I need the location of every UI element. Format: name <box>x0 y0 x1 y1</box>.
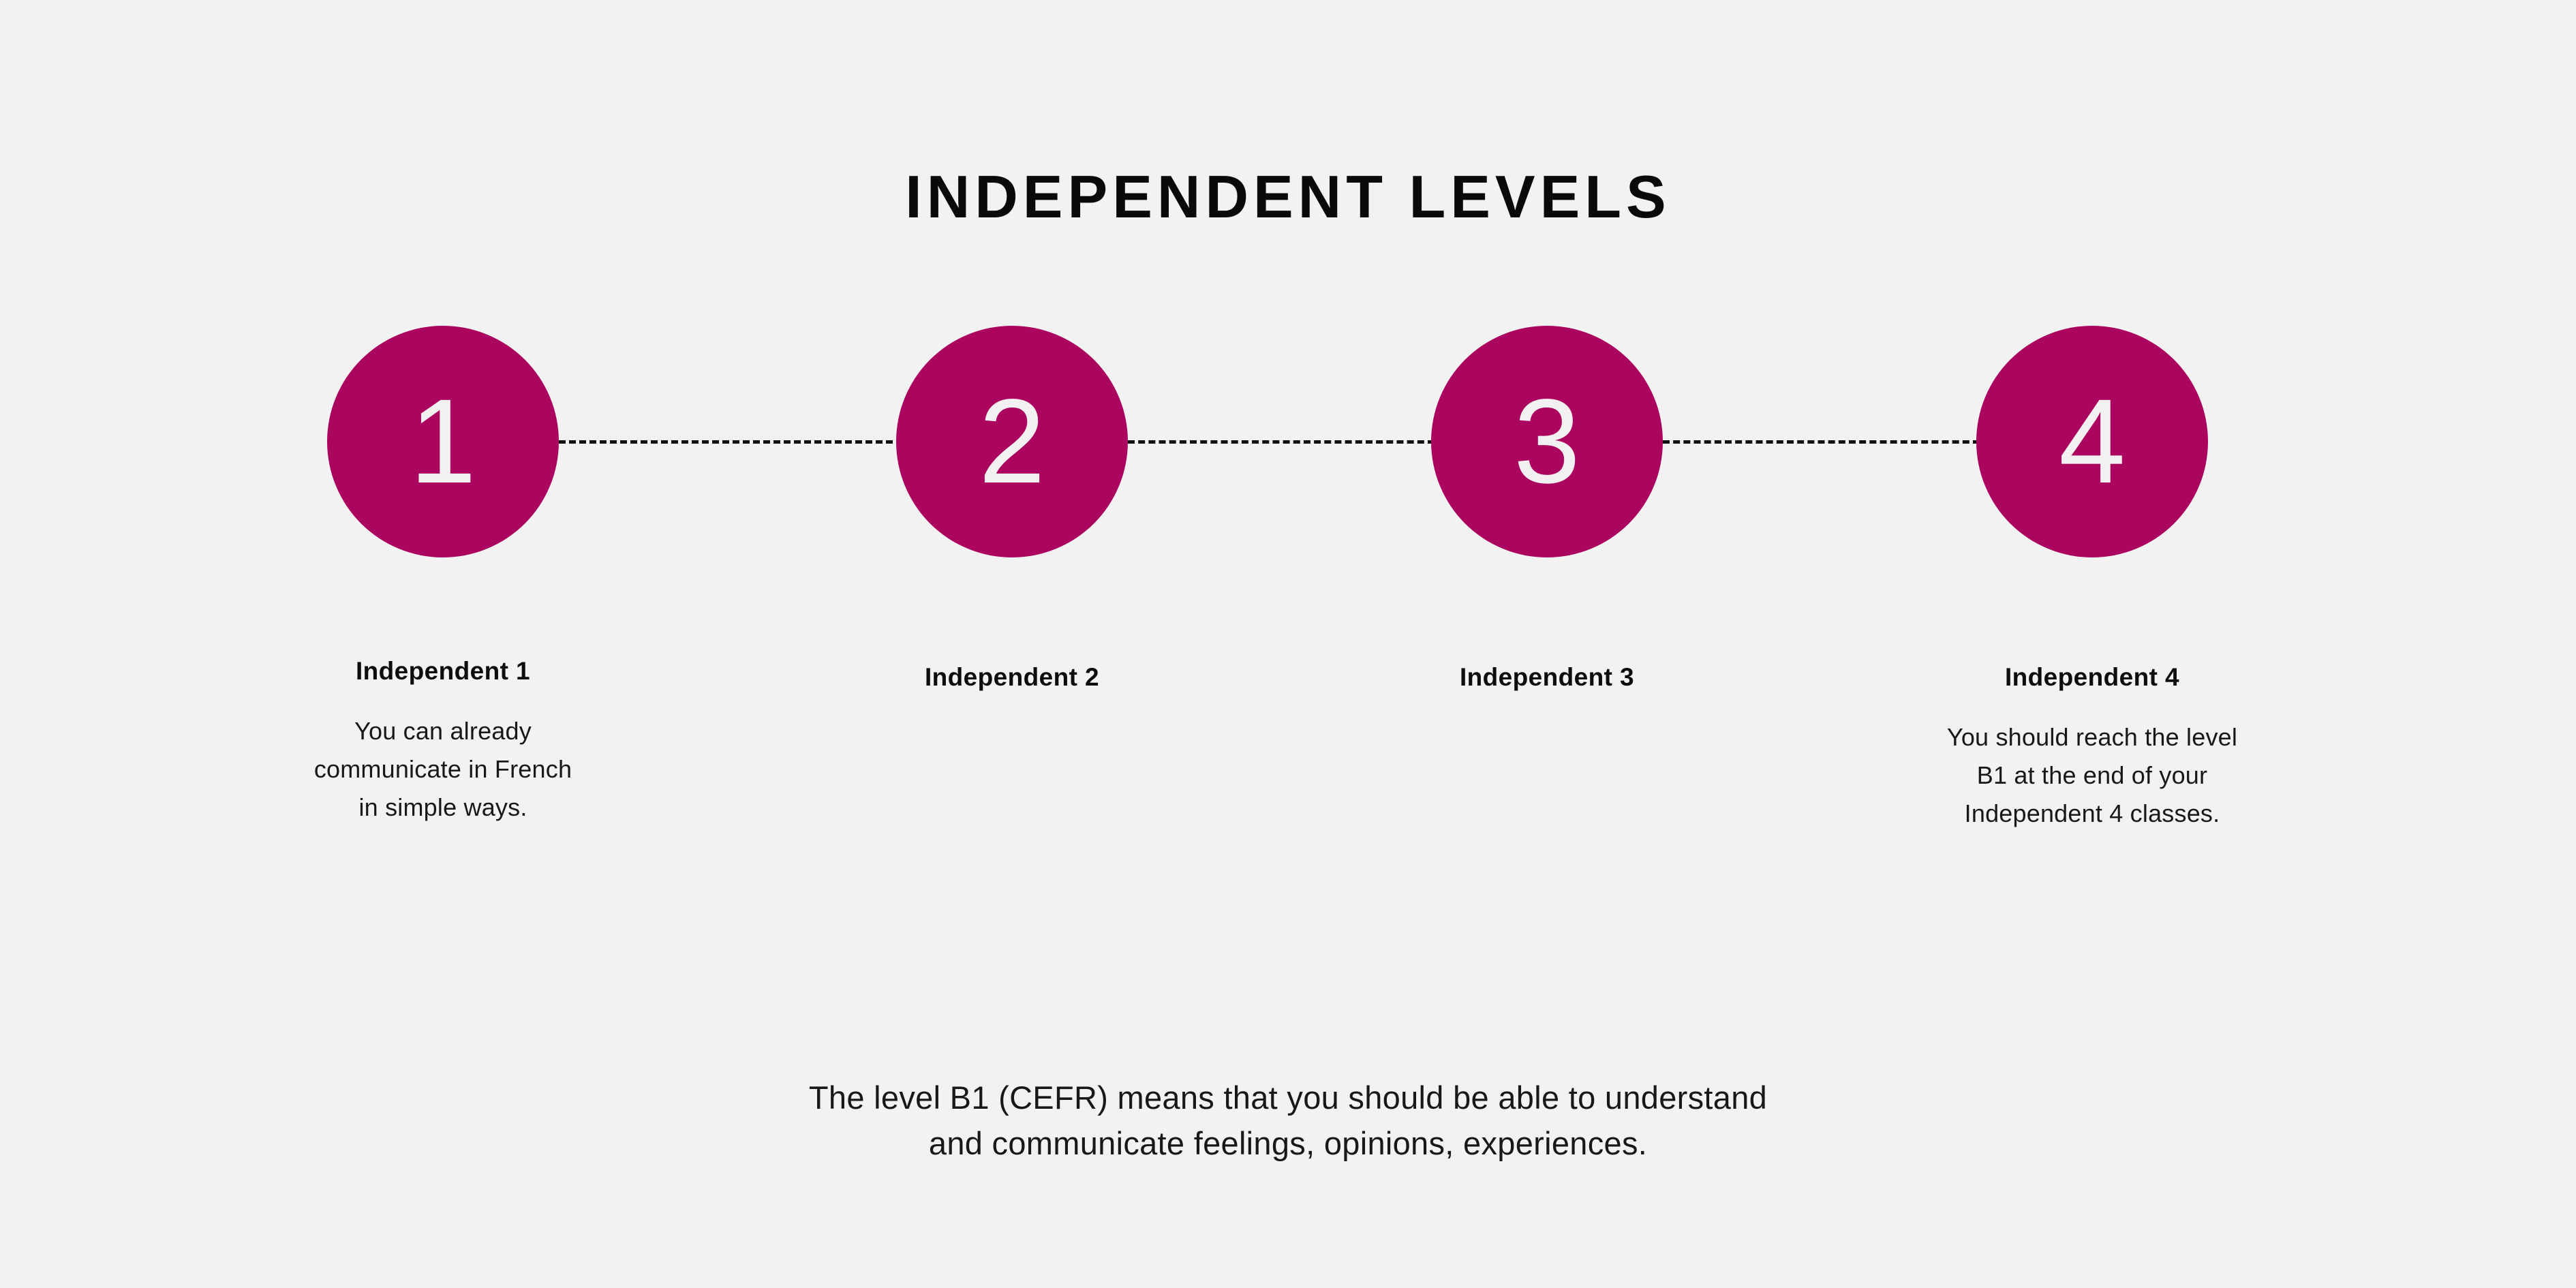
node-description-4: You should reach the level B1 at the end… <box>1929 718 2256 832</box>
page-title: INDEPENDENT LEVELS <box>0 167 2576 227</box>
node-label-3: Independent 3 <box>1383 662 1711 692</box>
node-caption-4: Independent 4 You should reach the level… <box>1929 662 2256 833</box>
connector-3-4 <box>1663 440 1980 444</box>
footer-note: The level B1 (CEFR) means that you shoul… <box>0 1075 2576 1166</box>
node-number-1: 1 <box>327 326 559 557</box>
node-label-2: Independent 2 <box>848 662 1176 692</box>
connector-2-3 <box>1128 440 1435 444</box>
timeline-node-1[interactable]: 1 <box>327 326 559 557</box>
timeline-node-2[interactable]: 2 <box>896 326 1128 557</box>
node-caption-1: Independent 1 You can already communicat… <box>279 656 607 827</box>
node-caption-3: Independent 3 <box>1383 662 1711 692</box>
timeline-node-4[interactable]: 4 <box>1976 326 2208 557</box>
node-number-3: 3 <box>1431 326 1663 557</box>
timeline: 1 2 3 4 <box>0 326 2576 557</box>
footer-line-1: The level B1 (CEFR) means that you shoul… <box>0 1075 2576 1121</box>
infographic-canvas: INDEPENDENT LEVELS 1 2 3 4 Independent 1… <box>0 0 2576 1288</box>
node-number-4: 4 <box>1976 326 2208 557</box>
node-caption-2: Independent 2 <box>848 662 1176 692</box>
timeline-node-3[interactable]: 3 <box>1431 326 1663 557</box>
node-label-4: Independent 4 <box>1929 662 2256 692</box>
footer-line-2: and communicate feelings, opinions, expe… <box>0 1121 2576 1167</box>
node-label-1: Independent 1 <box>279 656 607 686</box>
node-description-1: You can already communicate in French in… <box>279 712 607 826</box>
node-number-2: 2 <box>896 326 1128 557</box>
